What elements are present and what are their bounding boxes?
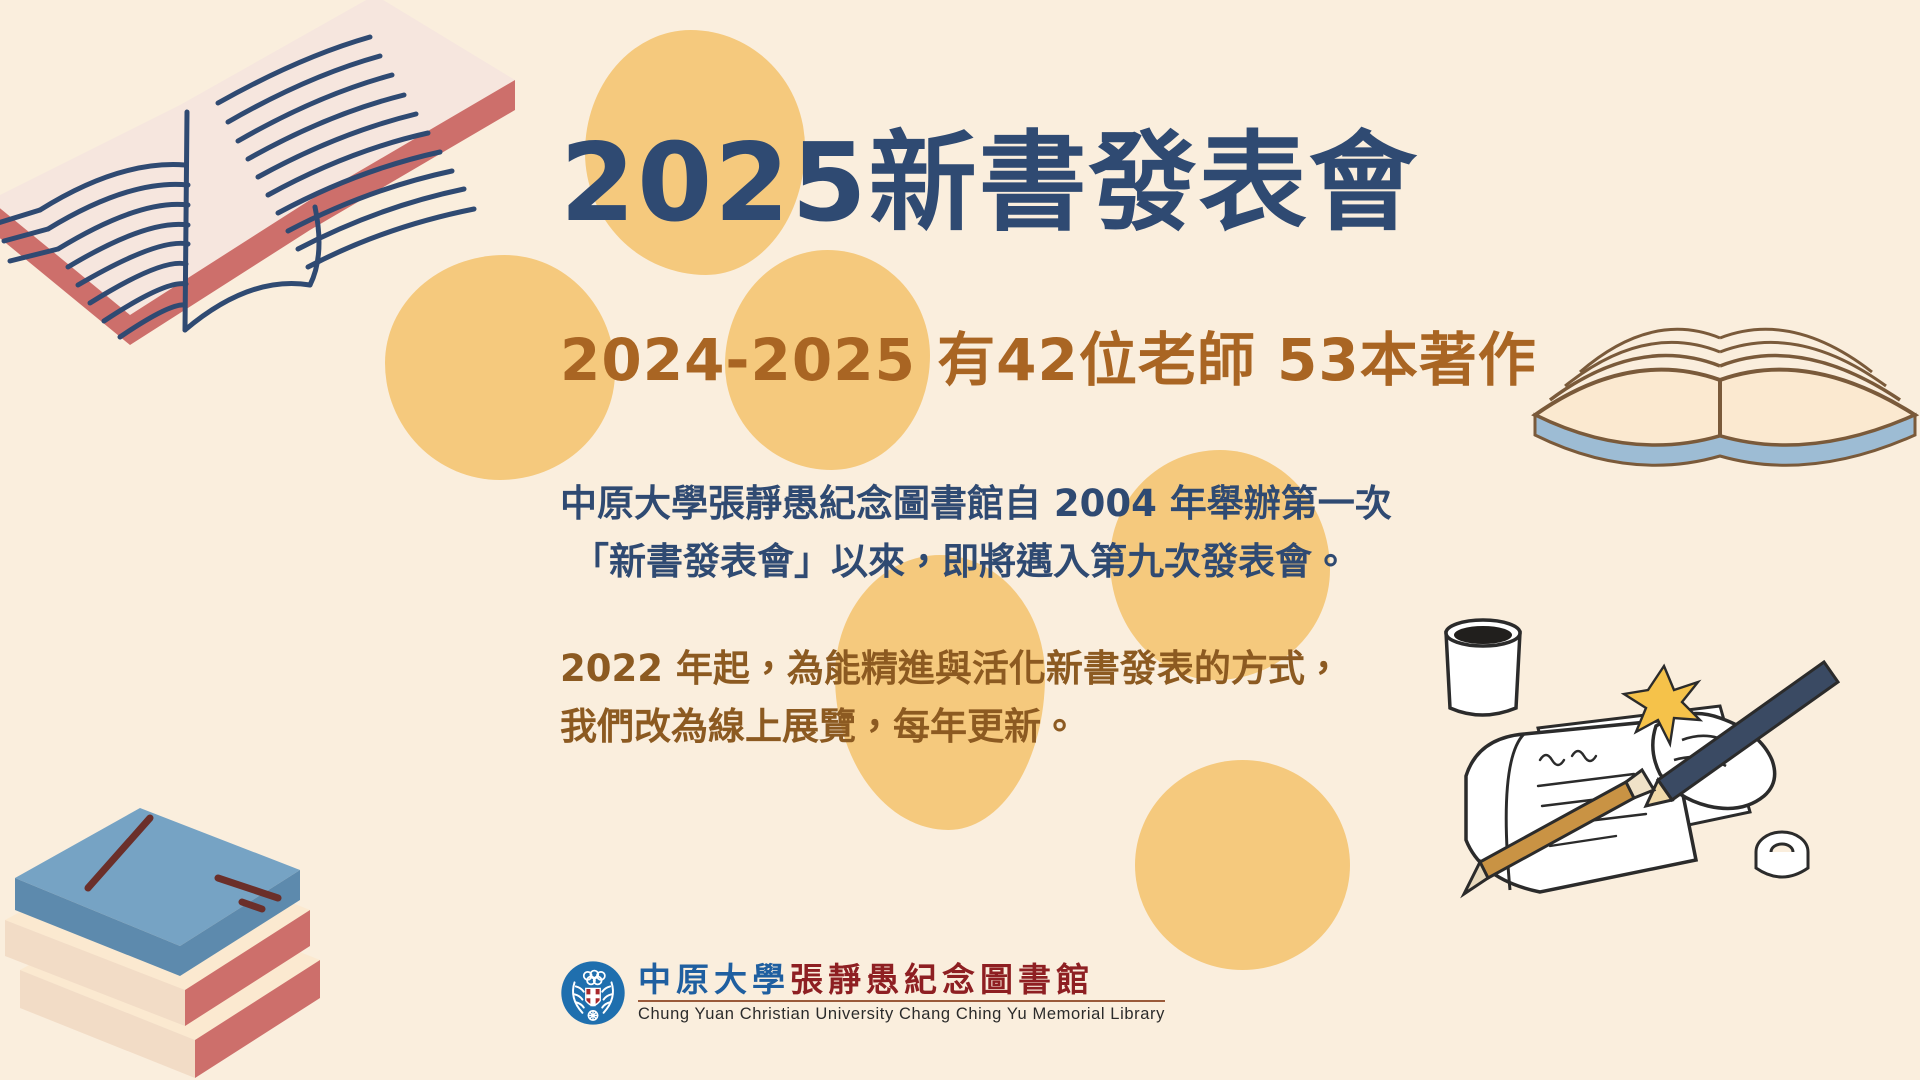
logo-university-name: 中原大學 (638, 960, 790, 999)
book-stack-icon (0, 760, 430, 1080)
open-book-icon (1520, 230, 1920, 520)
page-title: 2025新書發表會 (560, 127, 1419, 240)
writing-hand-icon (1420, 610, 1850, 910)
library-logo: 中原大學張靜愚紀念圖書館 Chung Yuan Christian Univer… (560, 960, 1165, 1026)
tape-roll-icon (1756, 832, 1808, 877)
cycu-crest-icon (560, 960, 626, 1026)
logo-divider (638, 1000, 1165, 1002)
online-paragraph: 2022 年起，為能精進與活化新書發表的方式， 我們改為線上展覽，每年更新。 (560, 640, 1342, 757)
online-paragraph-line-1: 2022 年起，為能精進與活化新書發表的方式， (560, 640, 1342, 698)
coffee-mug-icon (1446, 620, 1520, 715)
intro-paragraph-line-1: 中原大學張靜愚紀念圖書館自 2004 年舉辦第一次 (560, 475, 1392, 533)
logo-library-name: 張靜愚紀念圖書館 (790, 960, 1094, 999)
subtitle: 2024-2025 有42位老師 53本著作 (560, 313, 1537, 397)
intro-paragraph-line-2: 「新書發表會」以來，即將邁入第九次發表會。 (572, 533, 1392, 591)
decorative-blob (1135, 760, 1350, 970)
logo-chinese-name: 中原大學張靜愚紀念圖書館 (638, 962, 1165, 999)
intro-paragraph: 中原大學張靜愚紀念圖書館自 2004 年舉辦第一次 「新書發表會」以來，即將邁入… (560, 475, 1392, 592)
logo-text-block: 中原大學張靜愚紀念圖書館 Chung Yuan Christian Univer… (638, 962, 1165, 1025)
poster-canvas: 2025新書發表會 2024-2025 有42位老師 53本著作 中原大學張靜愚… (0, 0, 1920, 1080)
open-book-icon (0, 0, 520, 375)
online-paragraph-line-2: 我們改為線上展覽，每年更新。 (560, 698, 1342, 756)
logo-english-name: Chung Yuan Christian University Chang Ch… (638, 1005, 1165, 1024)
